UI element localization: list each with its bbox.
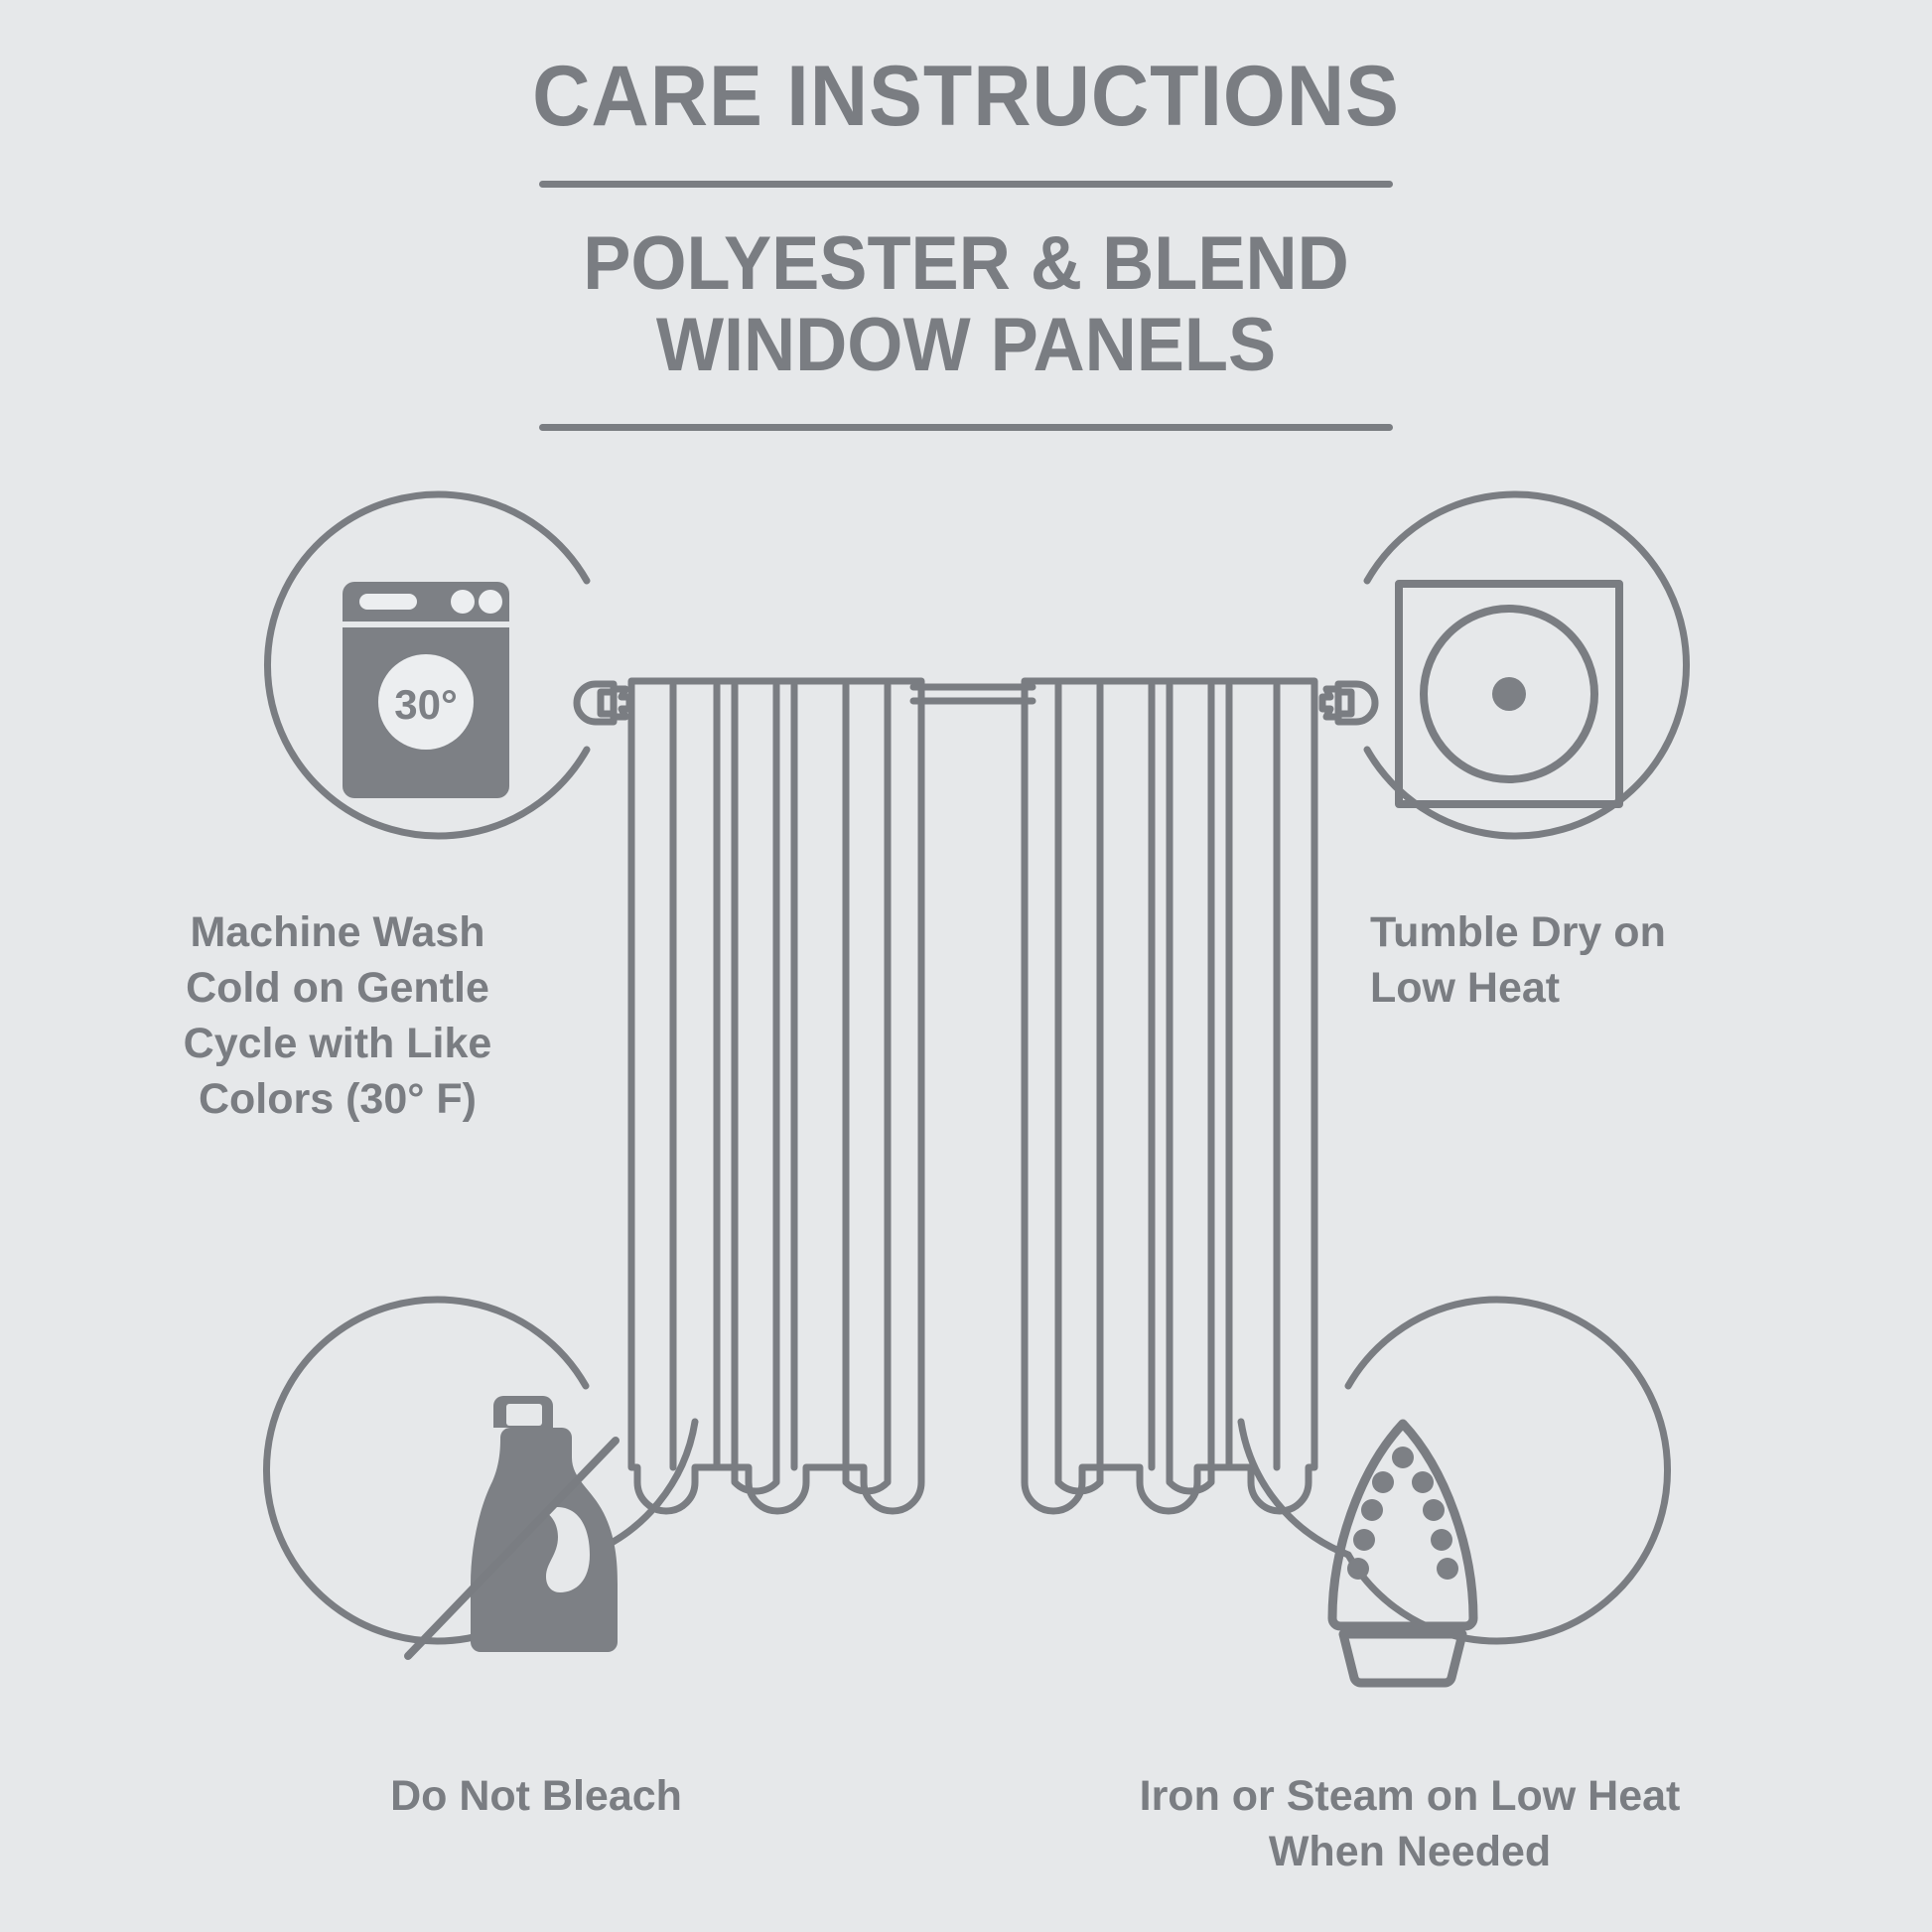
header: CARE INSTRUCTIONS POLYESTER & BLEND WIND… bbox=[0, 52, 1932, 431]
page-subtitle: POLYESTER & BLEND WINDOW PANELS bbox=[49, 223, 1884, 386]
title-divider-top bbox=[539, 181, 1393, 188]
iron-steam-holes bbox=[1347, 1447, 1458, 1580]
iron-ring bbox=[1348, 1300, 1668, 1641]
do-not-bleach-ring-arc2 bbox=[586, 1422, 695, 1555]
wash-temperature-badge: 30° bbox=[394, 681, 458, 728]
machine-wash-caption: Machine Wash Cold on Gentle Cycle with L… bbox=[109, 905, 566, 1128]
curtain-rod-finial-left bbox=[577, 684, 629, 722]
curtain-rod-finial-right bbox=[1322, 684, 1375, 722]
subtitle-line-2: WINDOW PANELS bbox=[49, 305, 1884, 386]
page-title: CARE INSTRUCTIONS bbox=[58, 52, 1873, 141]
tumble-dry-caption: Tumble Dry on Low Heat bbox=[1370, 905, 1837, 1017]
iron-ring-arc2 bbox=[1241, 1422, 1348, 1555]
washing-machine-icon bbox=[343, 582, 509, 798]
prohibition-slash bbox=[408, 1441, 616, 1656]
title-divider-bottom bbox=[539, 424, 1393, 431]
curtain-rod-center bbox=[913, 687, 1033, 701]
subtitle-line-1: POLYESTER & BLEND bbox=[49, 223, 1884, 305]
machine-wash-ring bbox=[267, 494, 587, 836]
tumble-dry-low-heat-dot bbox=[1492, 677, 1526, 711]
right-curtain-panel bbox=[1025, 681, 1314, 1511]
tumble-dry-ring bbox=[1367, 494, 1687, 836]
bleach-bottle-icon bbox=[471, 1396, 618, 1652]
do-not-bleach-caption: Do Not Bleach bbox=[189, 1769, 884, 1825]
left-curtain-panel bbox=[631, 681, 921, 1511]
iron-caption: Iron or Steam on Low Heat When Needed bbox=[1052, 1769, 1767, 1880]
care-instructions-card: CARE INSTRUCTIONS POLYESTER & BLEND WIND… bbox=[0, 0, 1932, 1932]
do-not-bleach-ring bbox=[266, 1300, 586, 1641]
tumble-dry-square-icon bbox=[1399, 584, 1619, 804]
steam-iron-icon bbox=[1332, 1424, 1473, 1683]
